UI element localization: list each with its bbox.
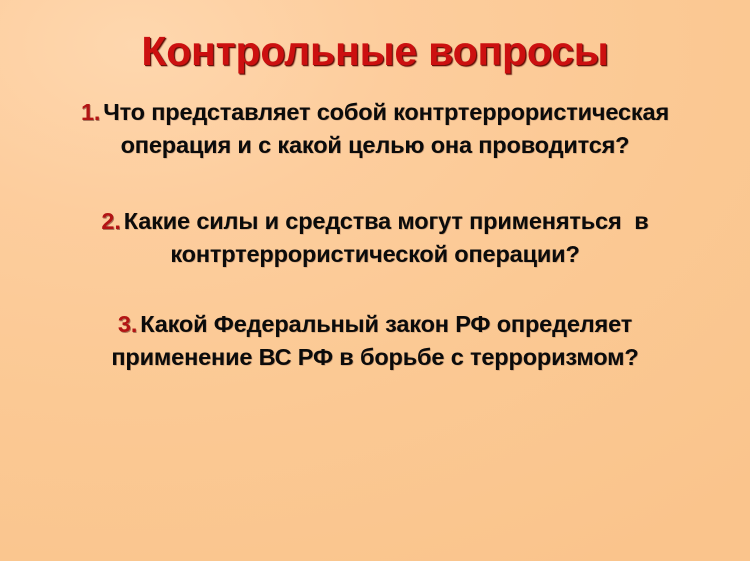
question-text-line2: применение ВС РФ в борьбе с терроризмом? [30,341,720,374]
question-line-first: 2.Какие силы и средства могут применятьс… [30,205,720,238]
question-text-line1: Какой Федеральный закон РФ определяет [140,311,632,337]
question-text-line1: Что представляет собой контртеррористиче… [103,99,669,125]
question-line-first: 3.Какой Федеральный закон РФ определяет [30,308,720,341]
question-text-line2: операция и с какой целью она проводится? [30,129,720,162]
list-item: 3.Какой Федеральный закон РФ определяет … [30,308,720,374]
list-item: 1.Что представляет собой контртеррористи… [30,96,720,162]
list-item: 2.Какие силы и средства могут применятьс… [30,205,720,271]
question-number: 1. [81,99,103,125]
question-text-line2: контртеррористической операции? [30,238,720,271]
question-list: 1.Что представляет собой контртеррористи… [0,96,750,374]
question-line-first: 1.Что представляет собой контртеррористи… [30,96,720,129]
question-number: 2. [101,208,123,234]
slide-canvas: Контрольные вопросы 1.Что представляет с… [0,0,750,561]
question-text-line1: Какие силы и средства могут применяться … [124,208,649,234]
page-title: Контрольные вопросы [0,26,750,76]
question-number: 3. [118,311,140,337]
